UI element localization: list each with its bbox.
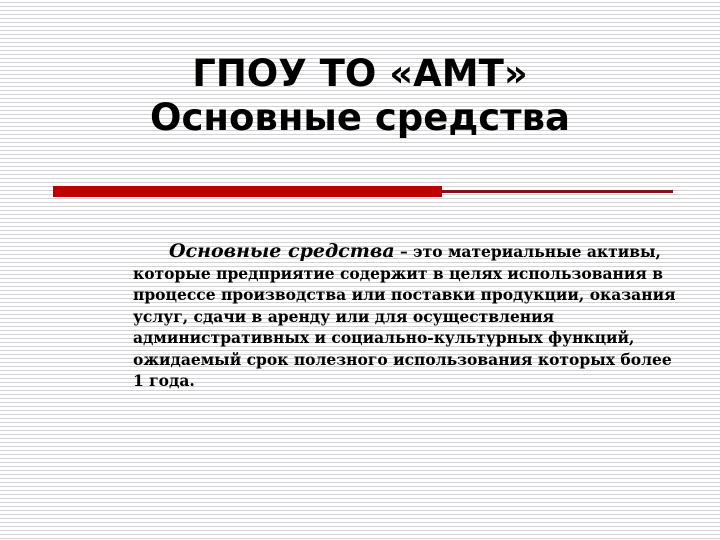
slide-body: Основные средства – это материальные акт… xyxy=(133,241,681,392)
title-line-2: Основные средства xyxy=(0,96,720,140)
slide-title: ГПОУ ТО «АМТ» Основные средства xyxy=(0,52,720,140)
definition-paragraph: Основные средства – это материальные акт… xyxy=(133,241,681,392)
definition-text: – это материальные активы, которые предп… xyxy=(133,242,676,390)
title-divider xyxy=(53,186,673,197)
title-line-1: ГПОУ ТО «АМТ» xyxy=(0,52,720,96)
divider-accent-bar xyxy=(53,186,442,197)
defined-term: Основные средства xyxy=(169,240,395,262)
slide-canvas: ГПОУ ТО «АМТ» Основные средства Основные… xyxy=(0,0,720,540)
